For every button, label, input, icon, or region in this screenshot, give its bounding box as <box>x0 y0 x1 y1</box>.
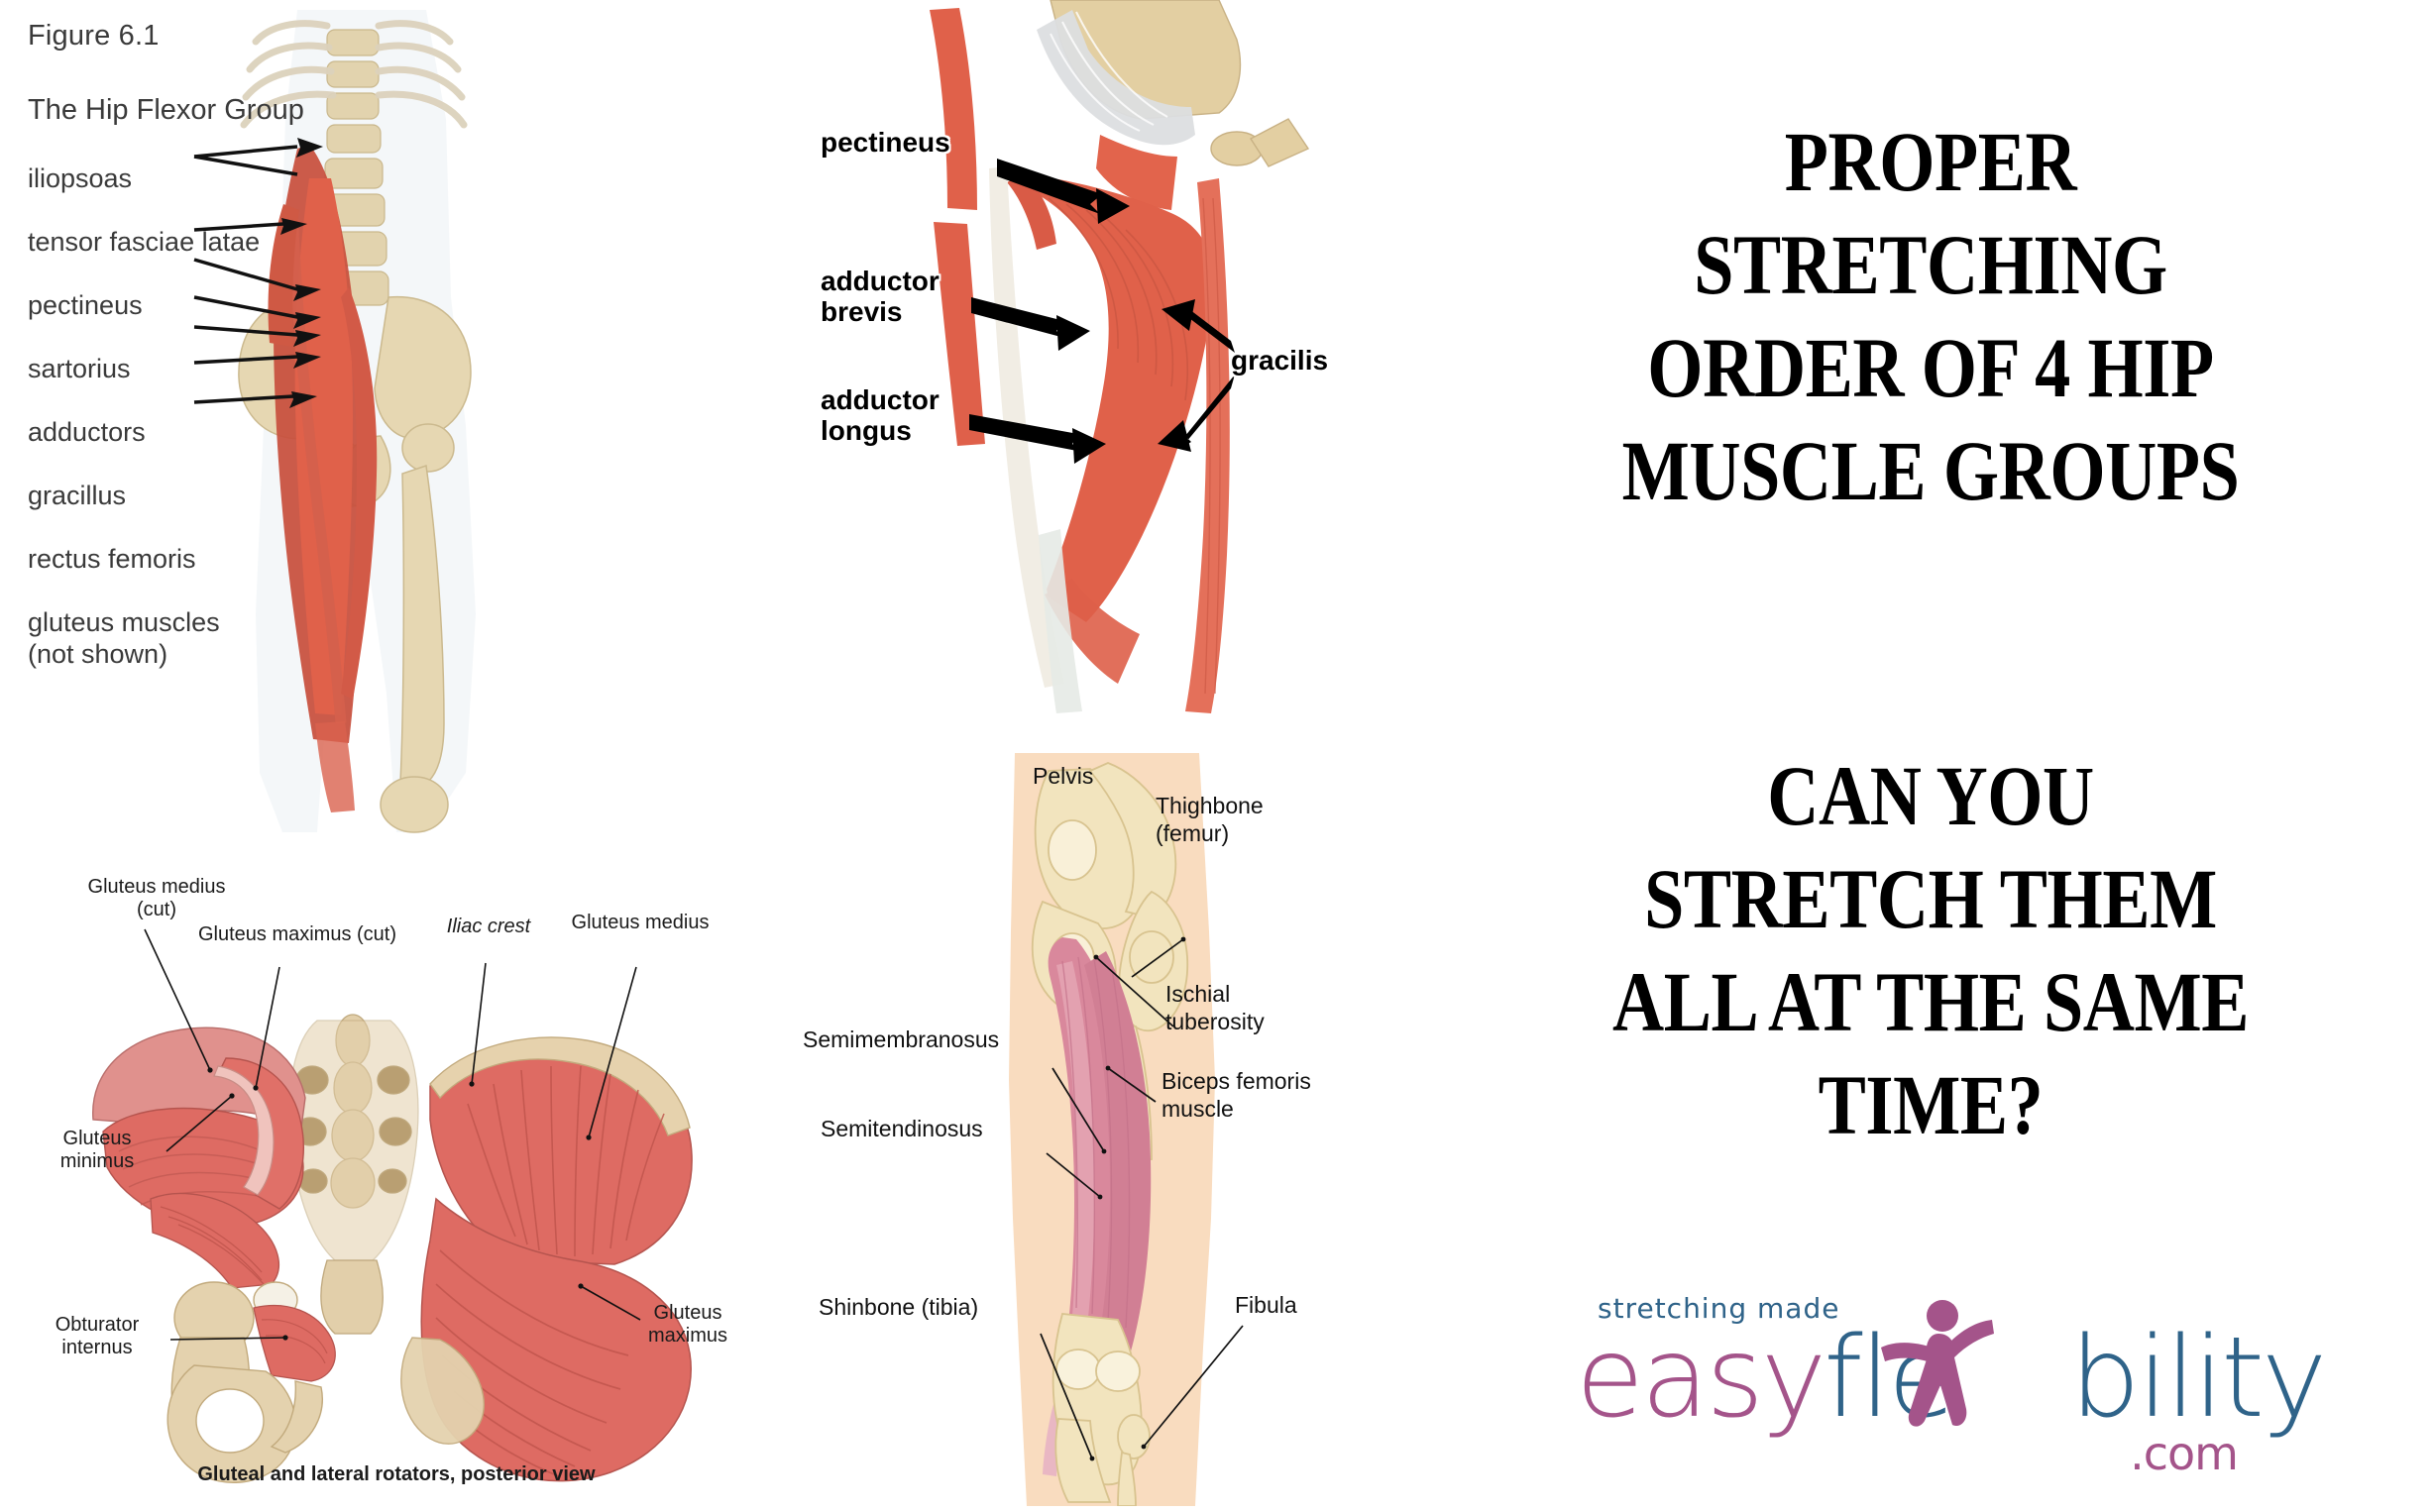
headline-line-3: ORDER OF 4 HIP <box>1507 325 2353 410</box>
label-adductor-longus: adductor longus <box>821 384 1019 447</box>
headline-primary: PROPER STRETCHING ORDER OF 4 HIP MUSCLE … <box>1507 119 2353 531</box>
logo-word-easy: easy <box>1576 1314 1824 1443</box>
label-obturator-internus: Obturator internus <box>28 1314 166 1359</box>
stretching-person-icon <box>1881 1294 2000 1443</box>
panel-hamstrings: Pelvis Thighbone (femur) Semimembranosus… <box>803 753 1417 1506</box>
panel-hip-flexor: Figure 6.1 The Hip Flexor Group iliopsoa… <box>0 0 694 872</box>
label-fibula: Fibula <box>1235 1292 1354 1320</box>
label-gluteus-medius-cut: Gluteus medius (cut) <box>77 876 236 921</box>
question-line-1: CAN YOU <box>1507 753 2353 838</box>
panel-gluteal: Gluteus medius (cut) Gluteus maximus (cu… <box>20 872 773 1506</box>
question-line-2: STRETCH THEM <box>1507 856 2353 941</box>
headline-question: CAN YOU STRETCH THEM ALL AT THE SAME TIM… <box>1507 753 2353 1165</box>
label-adductors: adductors <box>28 417 355 448</box>
label-thighbone-femur: Thighbone (femur) <box>1156 793 1314 847</box>
label-pelvis: Pelvis <box>1033 763 1152 791</box>
label-semimembranosus: Semimembranosus <box>803 1026 1056 1054</box>
easyflexibility-logo[interactable]: stretching made easyflebility .com <box>1576 1288 2289 1476</box>
logo-word-bility: bility <box>2070 1314 2325 1443</box>
label-biceps-femoris: Biceps femoris muscle <box>1162 1068 1340 1123</box>
logo-dotcom: .com <box>2130 1427 2238 1480</box>
headline-line-4: MUSCLE GROUPS <box>1507 428 2353 513</box>
headline-line-1: PROPER <box>1507 119 2353 204</box>
label-gluteus-minimus: Gluteus minimus <box>28 1128 166 1173</box>
gluteal-illustration <box>20 872 773 1506</box>
label-gracillus: gracillus <box>28 481 355 511</box>
question-line-4: TIME? <box>1507 1062 2353 1147</box>
figure-number: Figure 6.1 <box>28 20 355 53</box>
hip-flexor-label-column: Figure 6.1 The Hip Flexor Group iliopsoa… <box>28 20 355 670</box>
gluteal-caption: Gluteal and lateral rotators, posterior … <box>20 1463 773 1486</box>
figure-title: The Hip Flexor Group <box>28 94 355 126</box>
label-gluteus-maximus: Gluteus maximus <box>618 1302 757 1348</box>
label-shinbone-tibia: Shinbone (tibia) <box>819 1294 1037 1322</box>
label-gluteus-muscles-note: (not shown) <box>28 639 355 670</box>
label-gluteus-maximus-cut: Gluteus maximus (cut) <box>168 923 426 946</box>
label-gluteus-muscles: gluteus muscles <box>28 607 355 638</box>
label-ischial-tuberosity: Ischial tuberosity <box>1165 981 1314 1035</box>
label-iliac-crest: Iliac crest <box>414 916 563 938</box>
label-pectineus: pectineus <box>28 290 355 321</box>
label-adductor-brevis: adductor brevis <box>821 266 1019 328</box>
label-sartorius: sartorius <box>28 354 355 384</box>
question-line-3: ALL AT THE SAME <box>1507 959 2353 1044</box>
panel-adductors: pectineus adductor brevis adductor longu… <box>803 0 1417 733</box>
headline-line-2: STRETCHING <box>1507 222 2353 307</box>
label-rectus-femoris: rectus femoris <box>28 544 355 575</box>
label-gracilis: gracilis <box>1231 345 1389 376</box>
label-tensor-fasciae-latae: tensor fasciae latae <box>28 227 355 258</box>
label-iliopsoas: iliopsoas <box>28 163 355 194</box>
label-semitendinosus: Semitendinosus <box>821 1116 1049 1143</box>
label-pectineus-2: pectineus <box>821 127 1029 158</box>
label-gluteus-medius: Gluteus medius <box>571 912 710 934</box>
headline-block: PROPER STRETCHING ORDER OF 4 HIP MUSCLE … <box>1427 0 2434 1512</box>
